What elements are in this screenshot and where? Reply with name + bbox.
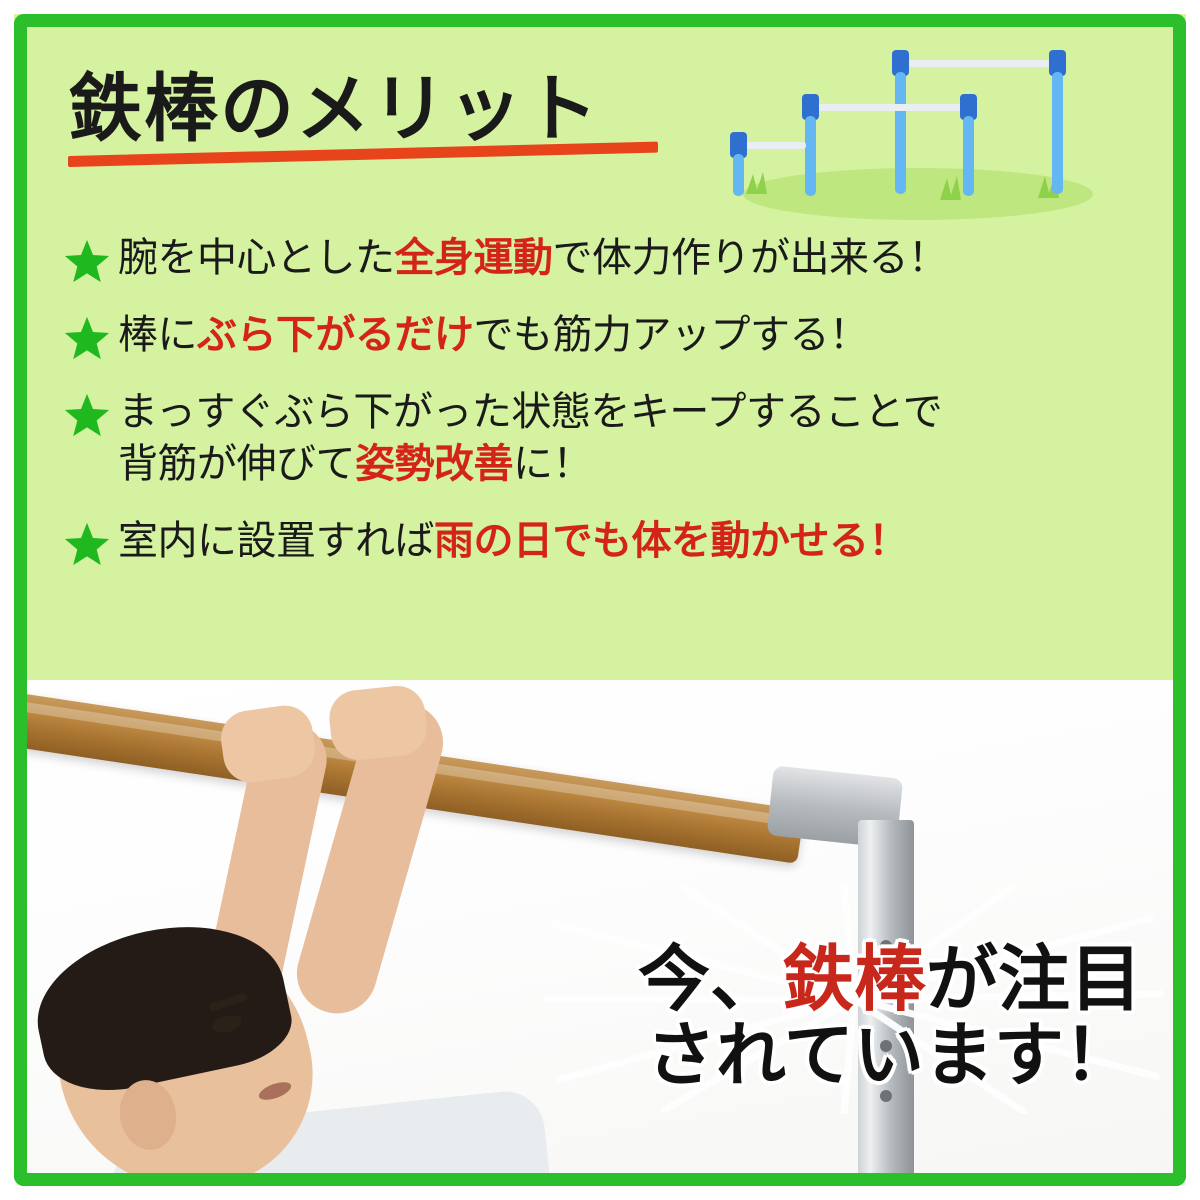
- poster: 今、鉄棒が注目 されています！ 鉄棒のメリット: [0, 0, 1200, 1200]
- list-item-highlight: 雨の日でも体を動かせる！: [434, 518, 908, 564]
- horizontal-bar-illustration: [708, 42, 1108, 222]
- list-item-text: 棒にぶら下がるだけでも筋力アップする！: [118, 309, 869, 362]
- list-item-text: まっすぐぶら下がった状態をキープすることで 背筋が伸びて姿勢改善に！: [118, 386, 942, 492]
- child-hand-right: [327, 683, 430, 763]
- list-item-highlight: ぶら下がるだけ: [197, 312, 474, 358]
- star-icon: [64, 315, 110, 361]
- title-block: 鉄棒のメリット: [68, 72, 658, 167]
- star-icon: [64, 238, 110, 284]
- list-item: 腕を中心とした全身運動で体力作りが出来る！: [64, 232, 1150, 285]
- list-item-text-part: まっすぐぶら下がった状態をキープすることで: [118, 389, 942, 435]
- list-item: まっすぐぶら下がった状態をキープすることで 背筋が伸びて姿勢改善に！: [64, 386, 1150, 492]
- list-item-text: 腕を中心とした全身運動で体力作りが出来る！: [118, 232, 948, 285]
- list-item-text-part: に！: [513, 441, 592, 487]
- frame-corner-bottom-right: [1095, 1095, 1186, 1186]
- list-item-text-part: 腕を中心とした: [118, 235, 395, 281]
- list-item: 棒にぶら下がるだけでも筋力アップする！: [64, 309, 1150, 362]
- list-item-text-part: 背筋が伸びて: [118, 441, 355, 487]
- post-foot: [848, 1185, 924, 1200]
- frame-edge-right: [1173, 92, 1186, 1108]
- list-item-text-part: 棒に: [118, 312, 197, 358]
- bottom-text-part-3: が注目: [926, 937, 1142, 1021]
- star-icon: [64, 521, 110, 567]
- star-icon: [64, 392, 110, 438]
- bottom-text-part-1: 今、: [638, 937, 782, 1021]
- list-item-text-part: で体力作りが出来る！: [553, 235, 948, 281]
- list-item: 室内に設置すれば雨の日でも体を動かせる！: [64, 515, 1150, 568]
- list-item-text: 室内に設置すれば雨の日でも体を動かせる！: [118, 515, 908, 568]
- frame-edge-top: [92, 14, 1108, 27]
- benefits-list: 腕を中心とした全身運動で体力作りが出来る！ 棒にぶら下がるだけでも筋力アップする…: [64, 232, 1150, 592]
- bottom-headline-line2: されています！: [638, 1018, 1142, 1094]
- list-item-text-part: 室内に設置すれば: [118, 518, 434, 564]
- frame-edge-bottom: [92, 1173, 1108, 1186]
- list-item-highlight: 全身運動: [395, 235, 553, 281]
- page-title: 鉄棒のメリット: [68, 72, 658, 146]
- bottom-text-highlight: 鉄棒: [782, 937, 926, 1021]
- list-item-text-part: でも筋力アップする！: [474, 312, 869, 358]
- list-item-highlight: 姿勢改善: [355, 441, 513, 487]
- bottom-headline: 今、鉄棒が注目 されています！: [638, 941, 1142, 1094]
- frame-edge-left: [14, 92, 27, 1108]
- frame-corner-top-left: [14, 14, 105, 105]
- bottom-headline-line1: 今、鉄棒が注目: [638, 941, 1142, 1019]
